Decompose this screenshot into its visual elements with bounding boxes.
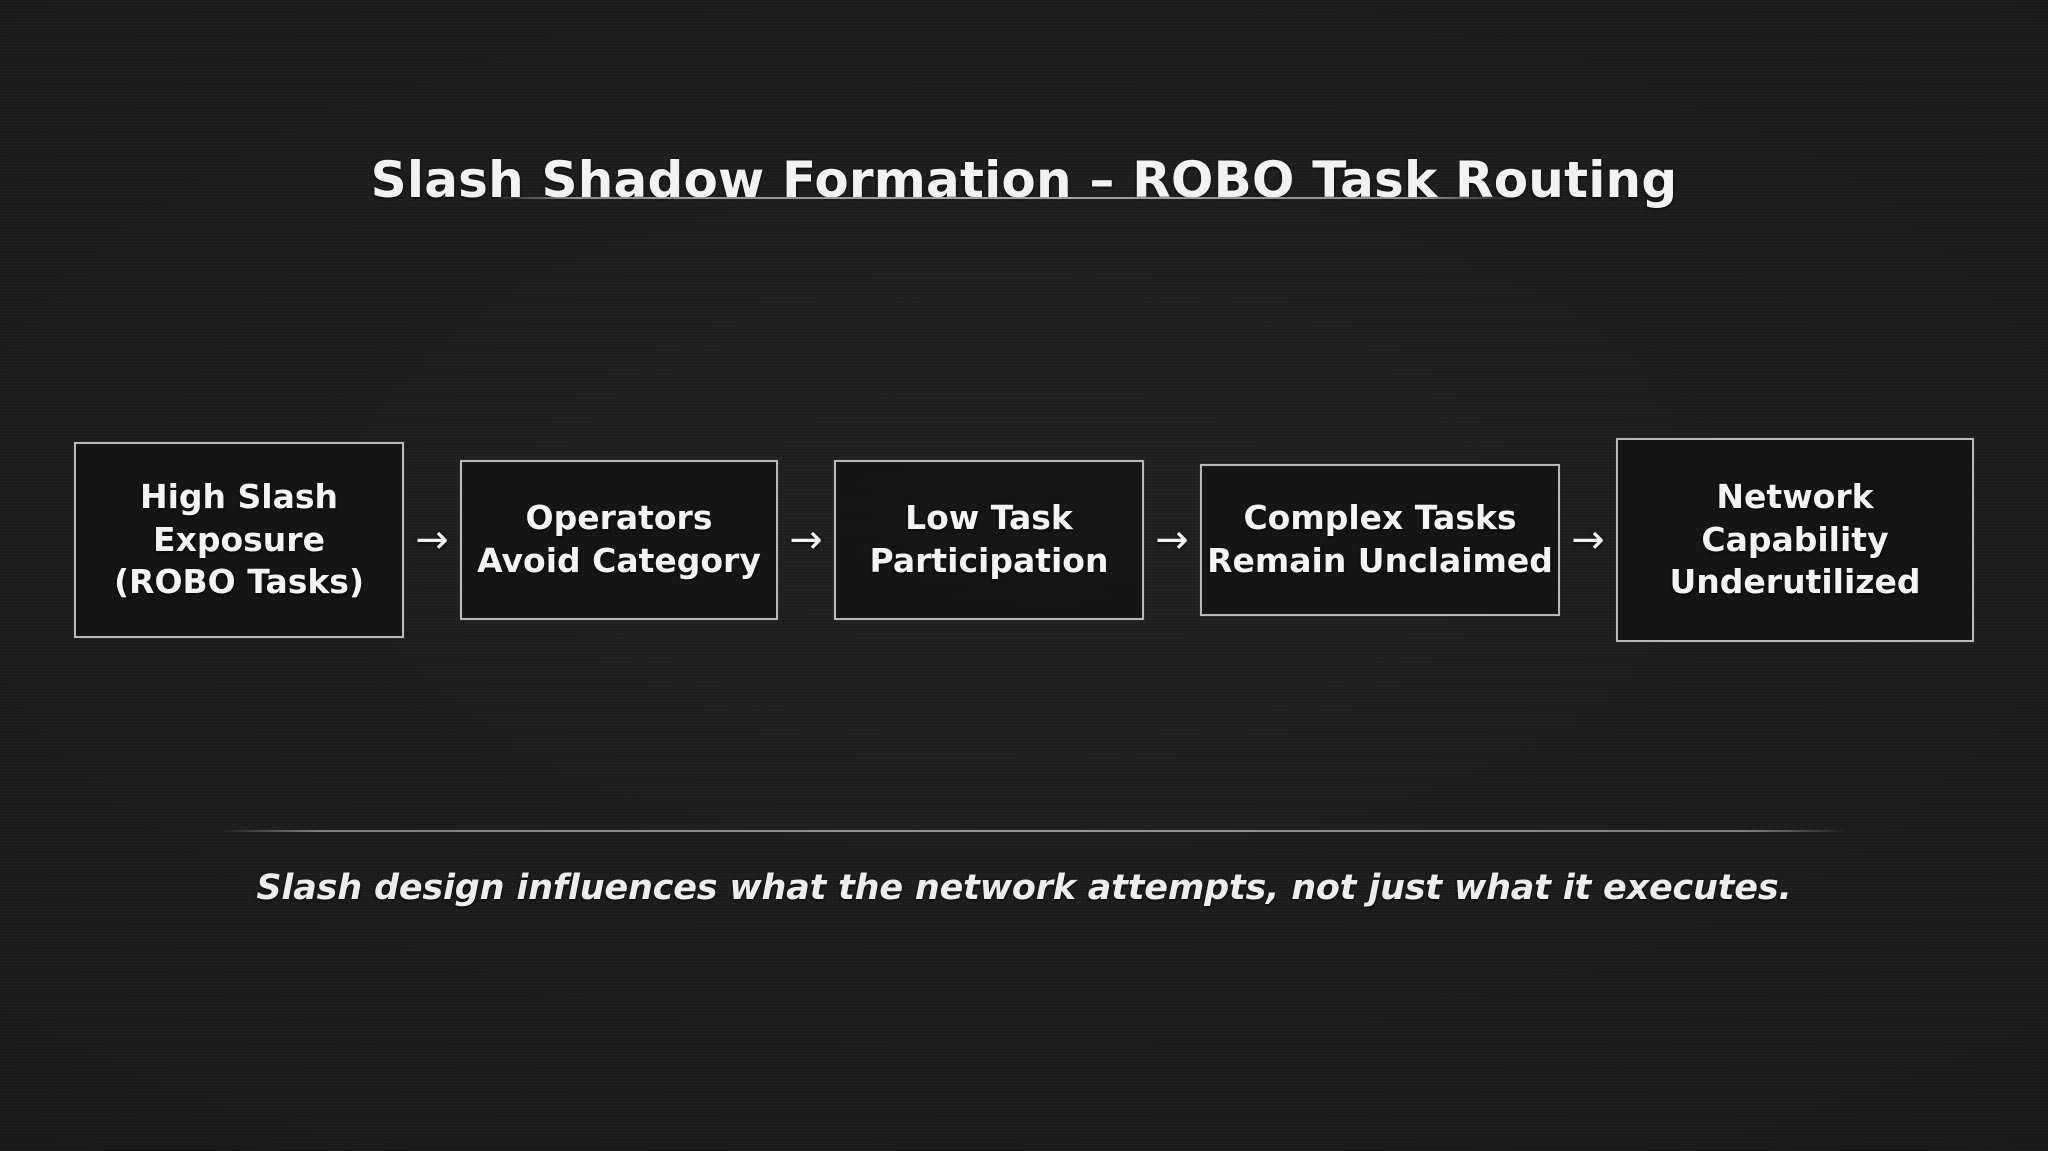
footer-caption: Slash design influences what the network… [0, 868, 2048, 908]
flow-node-line: Participation [870, 540, 1109, 583]
flow-node-line: Exposure [153, 519, 325, 562]
arrow-right-icon: → [404, 520, 460, 560]
flow-node-line: Avoid Category [477, 540, 761, 583]
flow-node-operators-avoid-category[interactable]: Operators Avoid Category [460, 460, 778, 620]
flow-node-complex-tasks-remain-unclaimed[interactable]: Complex Tasks Remain Unclaimed [1200, 464, 1560, 616]
flow-node-network-capability-underutilized[interactable]: Network Capability Underutilized [1616, 438, 1974, 642]
arrow-right-icon: → [1560, 520, 1616, 560]
flow-node-line: Operators [526, 497, 713, 540]
flow-node-line: Underutilized [1670, 561, 1921, 604]
title-block: Slash Shadow Formation – ROBO Task Routi… [0, 118, 2048, 243]
title-divider [493, 197, 1511, 199]
footer-divider [222, 830, 1843, 832]
arrow-right-icon: → [778, 520, 834, 560]
flow-node-line: (ROBO Tasks) [114, 561, 364, 604]
flow-node-line: Network [1716, 476, 1873, 519]
flow-node-line: Capability [1701, 519, 1888, 562]
flow-node-low-task-participation[interactable]: Low Task Participation [834, 460, 1144, 620]
flow-node-line: Remain Unclaimed [1207, 540, 1553, 583]
flow-diagram: High Slash Exposure (ROBO Tasks) → Opera… [0, 420, 2048, 660]
flow-node-line: Complex Tasks [1243, 497, 1516, 540]
slide-canvas: Slash Shadow Formation – ROBO Task Routi… [0, 0, 2048, 1151]
page-title: Slash Shadow Formation – ROBO Task Routi… [371, 152, 1678, 210]
flow-node-line: High Slash [140, 476, 338, 519]
arrow-right-icon: → [1144, 520, 1200, 560]
flow-node-line: Low Task [905, 497, 1073, 540]
flow-node-high-slash-exposure[interactable]: High Slash Exposure (ROBO Tasks) [74, 442, 404, 638]
